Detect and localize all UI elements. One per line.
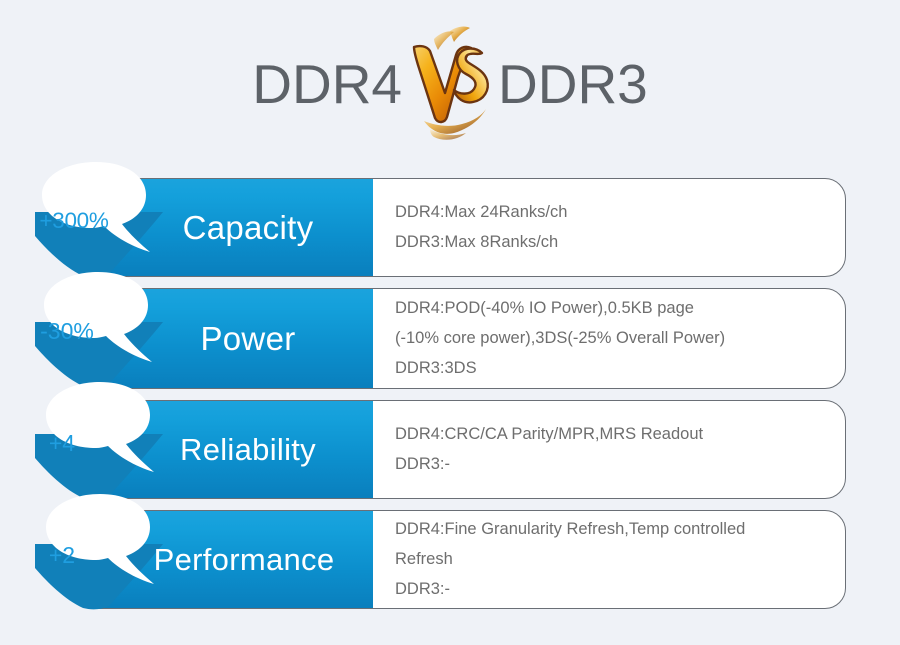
badge-text: +2 — [16, 524, 108, 586]
description-line: DDR3:3DS — [395, 355, 827, 382]
description-line: DDR4:Fine Granularity Refresh,Temp contr… — [395, 516, 827, 543]
description-line: DDR3:Max 8Ranks/ch — [395, 229, 827, 256]
description-line: DDR3:- — [395, 451, 827, 478]
vs-flame-icon — [404, 25, 496, 143]
row-card: Power DDR4:POD(-40% IO Power),0.5KB page… — [96, 288, 846, 389]
comparison-row-performance: Performance DDR4:Fine Granularity Refres… — [0, 510, 900, 609]
badge-text: +300% — [14, 190, 134, 252]
description-block: DDR4:Fine Granularity Refresh,Temp contr… — [395, 511, 827, 608]
description-line: DDR3:- — [395, 576, 827, 603]
description-block: DDR4:POD(-40% IO Power),0.5KB page (-10%… — [395, 289, 827, 388]
description-line: DDR4:POD(-40% IO Power),0.5KB page — [395, 295, 827, 322]
title-right-ddr3: DDR3 — [498, 57, 648, 112]
description-line: (-10% core power),3DS(-25% Overall Power… — [395, 325, 827, 352]
comparison-row-power: Power DDR4:POD(-40% IO Power),0.5KB page… — [0, 288, 900, 389]
comparison-row-reliability: Reliability DDR4:CRC/CA Parity/MPR,MRS R… — [0, 400, 900, 499]
row-card: Reliability DDR4:CRC/CA Parity/MPR,MRS R… — [96, 400, 846, 499]
title-left-ddr4: DDR4 — [252, 57, 402, 112]
comparison-rows: Capacity DDR4:Max 24Ranks/ch DDR3:Max 8R… — [0, 178, 900, 620]
page-title: DDR4 — [0, 34, 900, 134]
description-line: Refresh — [395, 546, 827, 573]
infographic-root: DDR4 — [0, 0, 900, 645]
badge-text: +4 — [16, 412, 108, 474]
row-card: Capacity DDR4:Max 24Ranks/ch DDR3:Max 8R… — [96, 178, 846, 277]
description-block: DDR4:CRC/CA Parity/MPR,MRS Readout DDR3:… — [395, 401, 827, 498]
description-line: DDR4:CRC/CA Parity/MPR,MRS Readout — [395, 421, 827, 448]
badge-text: -30% — [12, 300, 122, 362]
description-block: DDR4:Max 24Ranks/ch DDR3:Max 8Ranks/ch — [395, 179, 827, 276]
row-card: Performance DDR4:Fine Granularity Refres… — [96, 510, 846, 609]
description-line: DDR4:Max 24Ranks/ch — [395, 199, 827, 226]
comparison-row-capacity: Capacity DDR4:Max 24Ranks/ch DDR3:Max 8R… — [0, 178, 900, 277]
